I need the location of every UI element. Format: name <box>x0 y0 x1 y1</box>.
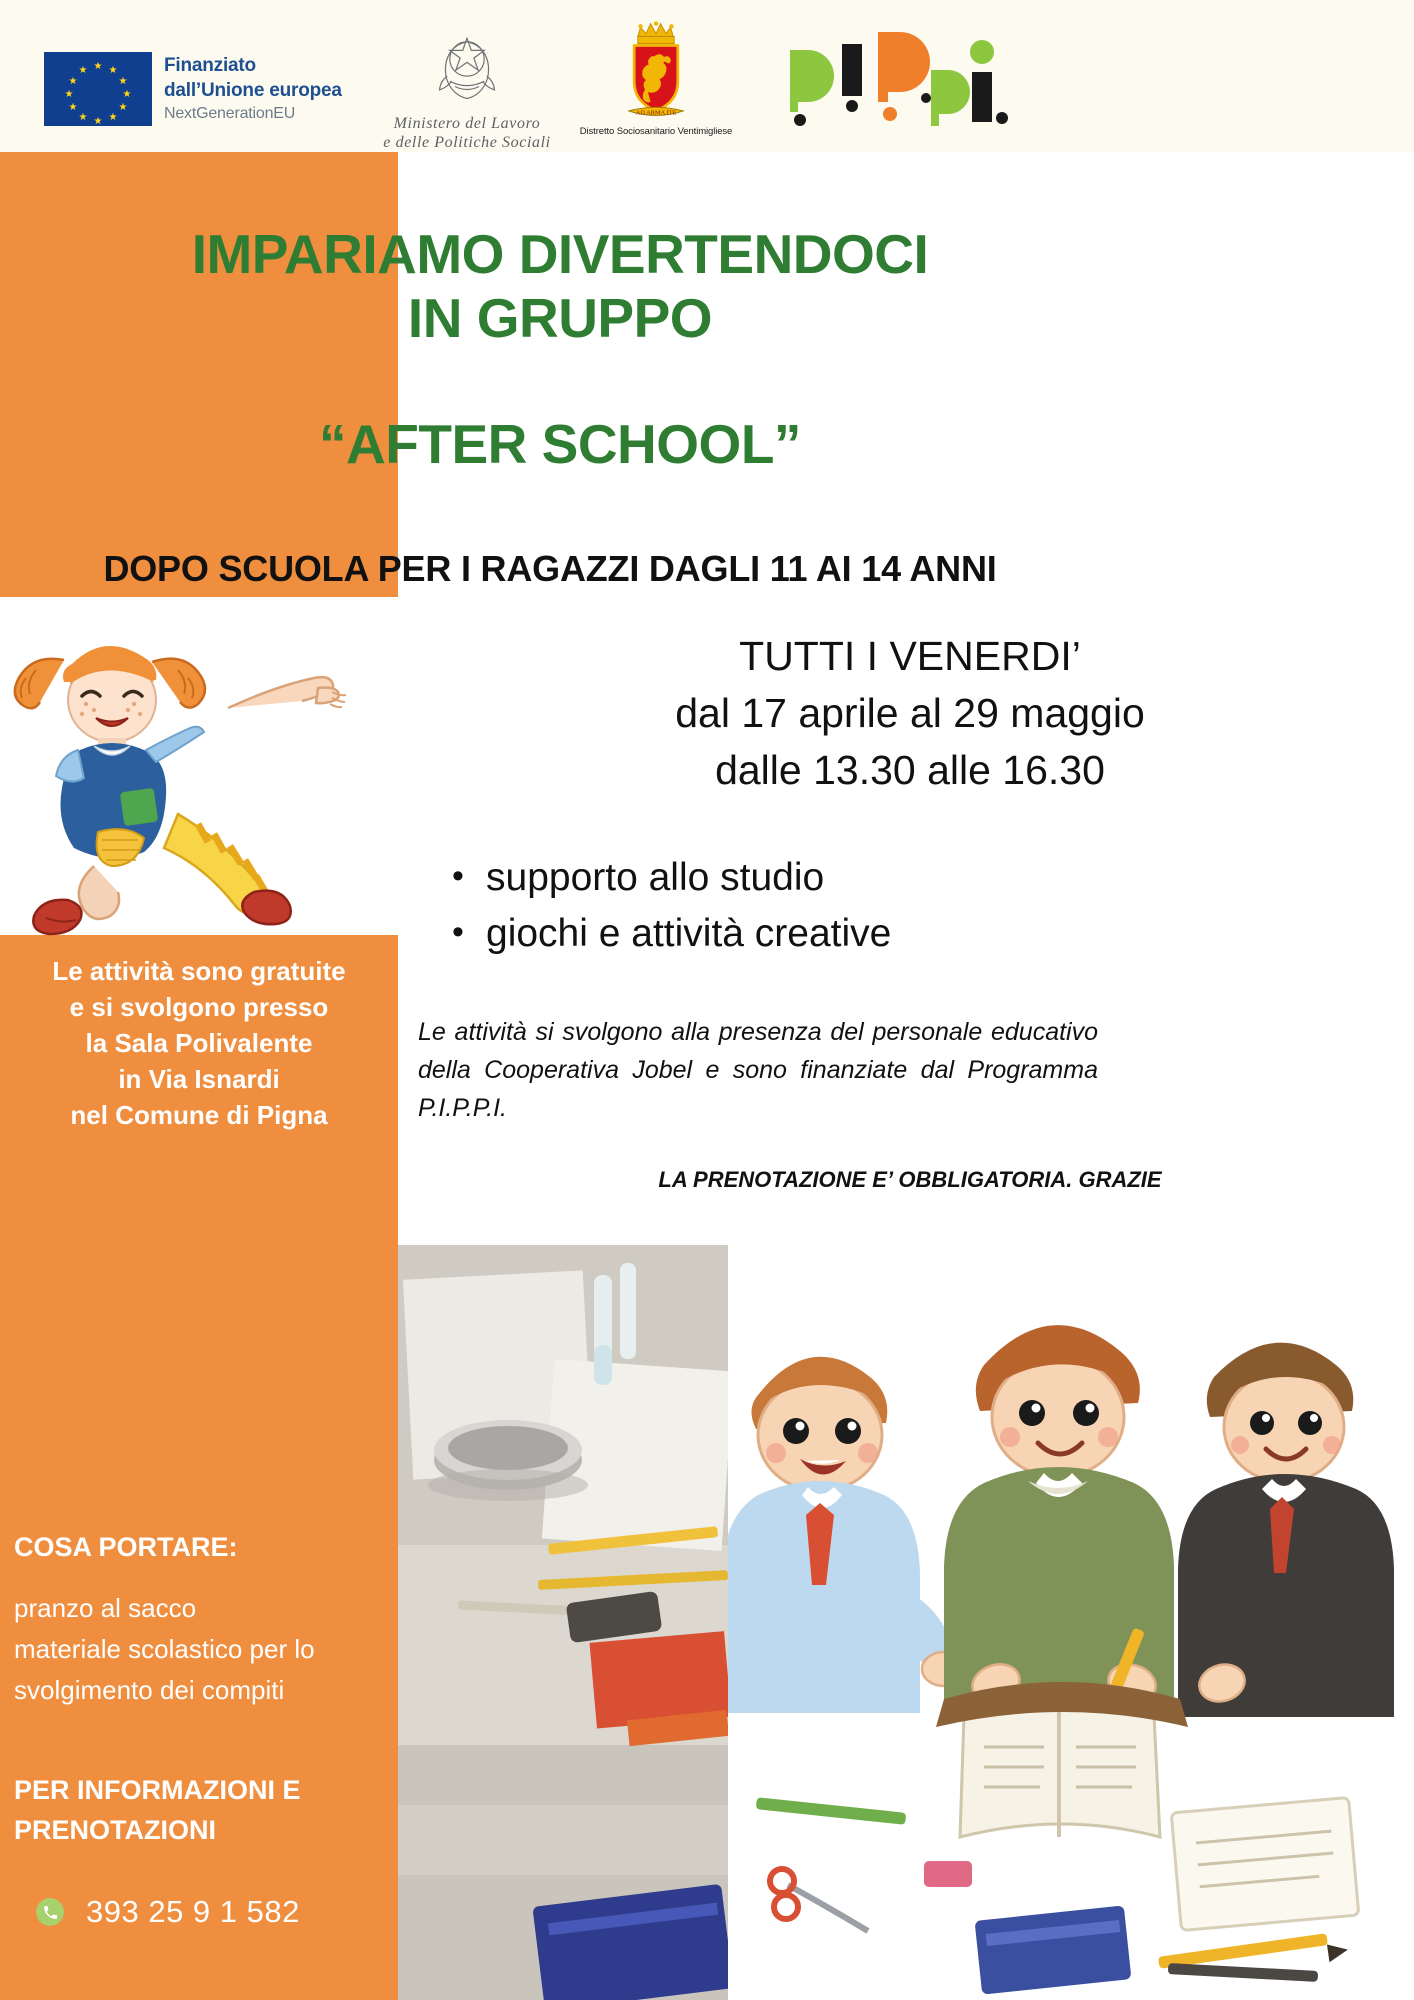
comune-district-logo: AD ARMA ITE Distretto Sociosanitario Ven… <box>548 20 764 138</box>
desk-photo-graphic <box>398 1245 728 2000</box>
schedule-block: TUTTI I VENERDI’ dal 17 aprile al 29 mag… <box>410 628 1410 799</box>
jumping-girl-illustration <box>2 600 402 940</box>
ventimiglia-coat-of-arms-icon: AD ARMA ITE <box>606 20 706 120</box>
children-studying-illustration <box>728 1245 1414 2000</box>
activities-list: supporto allo studio giochi e attività c… <box>450 850 1410 962</box>
schedule-line-2: dal 17 aprile al 29 maggio <box>410 685 1410 742</box>
italian-republic-emblem-icon <box>424 28 510 114</box>
kid-center <box>944 1325 1174 1722</box>
phone-icon <box>36 1898 64 1926</box>
eu-logo-line3: NextGenerationEU <box>164 103 342 125</box>
phone-handset-icon <box>42 1904 59 1921</box>
venue-line-2: e si svolgono presso <box>0 989 398 1025</box>
bring-line-3: svolgimento dei compiti <box>14 1670 404 1711</box>
pippi-program-logo <box>786 26 1026 136</box>
phone-number: 393 25 9 1 582 <box>86 1895 300 1929</box>
eu-flag-icon: ★ ★ ★ ★ ★ ★ ★ ★ ★ ★ ★ ★ <box>44 52 152 126</box>
svg-text:AD ARMA ITE: AD ARMA ITE <box>636 110 677 117</box>
contact-heading-line-2: PRENOTAZIONI <box>14 1810 404 1850</box>
staffing-note: Le attività si svolgono alla presenza de… <box>418 1013 1098 1127</box>
pippi-logo-icon <box>786 26 1026 136</box>
contact-heading: PER INFORMAZIONI E PRENOTAZIONI <box>14 1770 404 1850</box>
venue-info: Le attività sono gratuite e si svolgono … <box>0 953 398 1133</box>
title-line-1: IMPARIAMO DIVERTENDOCI <box>0 222 1120 286</box>
title-line-2: IN GRUPPO <box>0 286 1120 350</box>
contact-heading-line-1: PER INFORMAZIONI E <box>14 1770 404 1810</box>
comune-district-caption: Distretto Sociosanitario Ventimigliese <box>548 126 764 138</box>
bring-heading: COSA PORTARE: <box>14 1530 238 1564</box>
eu-funding-logo: ★ ★ ★ ★ ★ ★ ★ ★ ★ ★ ★ ★ Finanziato dall’… <box>44 52 342 126</box>
venue-line-5: nel Comune di Pigna <box>0 1097 398 1133</box>
bring-line-1: pranzo al sacco <box>14 1588 404 1629</box>
venue-line-4: in Via Isnardi <box>0 1061 398 1097</box>
girl-illustration-icon <box>2 600 402 940</box>
eu-logo-text: Finanziato dall’Unione europea NextGener… <box>164 52 342 125</box>
schedule-line-3: dalle 13.30 alle 16.30 <box>410 742 1410 799</box>
orange-panel-top <box>0 152 398 597</box>
list-item: supporto allo studio <box>450 850 1410 906</box>
phone-contact-row[interactable]: 393 25 9 1 582 <box>36 1895 300 1929</box>
header-logo-band: ★ ★ ★ ★ ★ ★ ★ ★ ★ ★ ★ ★ Finanziato dall’… <box>0 0 1414 152</box>
eu-logo-line2: dall’Unione europea <box>164 78 342 103</box>
list-item: giochi e attività creative <box>450 906 1410 962</box>
bring-items: pranzo al sacco materiale scolastico per… <box>14 1588 404 1711</box>
venue-line-1: Le attività sono gratuite <box>0 953 398 989</box>
booking-required-note: LA PRENOTAZIONE E’ OBBLIGATORIA. GRAZIE <box>410 1165 1410 1195</box>
kids-illustration-graphic <box>728 1245 1414 2000</box>
schedule-line-1: TUTTI I VENERDI’ <box>410 628 1410 685</box>
age-range-subtitle: DOPO SCUOLA PER I RAGAZZI DAGLI 11 AI 14… <box>0 547 1100 591</box>
after-school-title: “AFTER SCHOOL” <box>0 412 1120 476</box>
poster-root: ★ ★ ★ ★ ★ ★ ★ ★ ★ ★ ★ ★ Finanziato dall’… <box>0 0 1414 2000</box>
venue-line-3: la Sala Polivalente <box>0 1025 398 1061</box>
eu-logo-line1: Finanziato <box>164 53 342 78</box>
school-desk-materials-photo <box>398 1245 728 2000</box>
page-title: IMPARIAMO DIVERTENDOCI IN GRUPPO <box>0 222 1120 350</box>
bring-line-2: materiale scolastico per lo <box>14 1629 404 1670</box>
